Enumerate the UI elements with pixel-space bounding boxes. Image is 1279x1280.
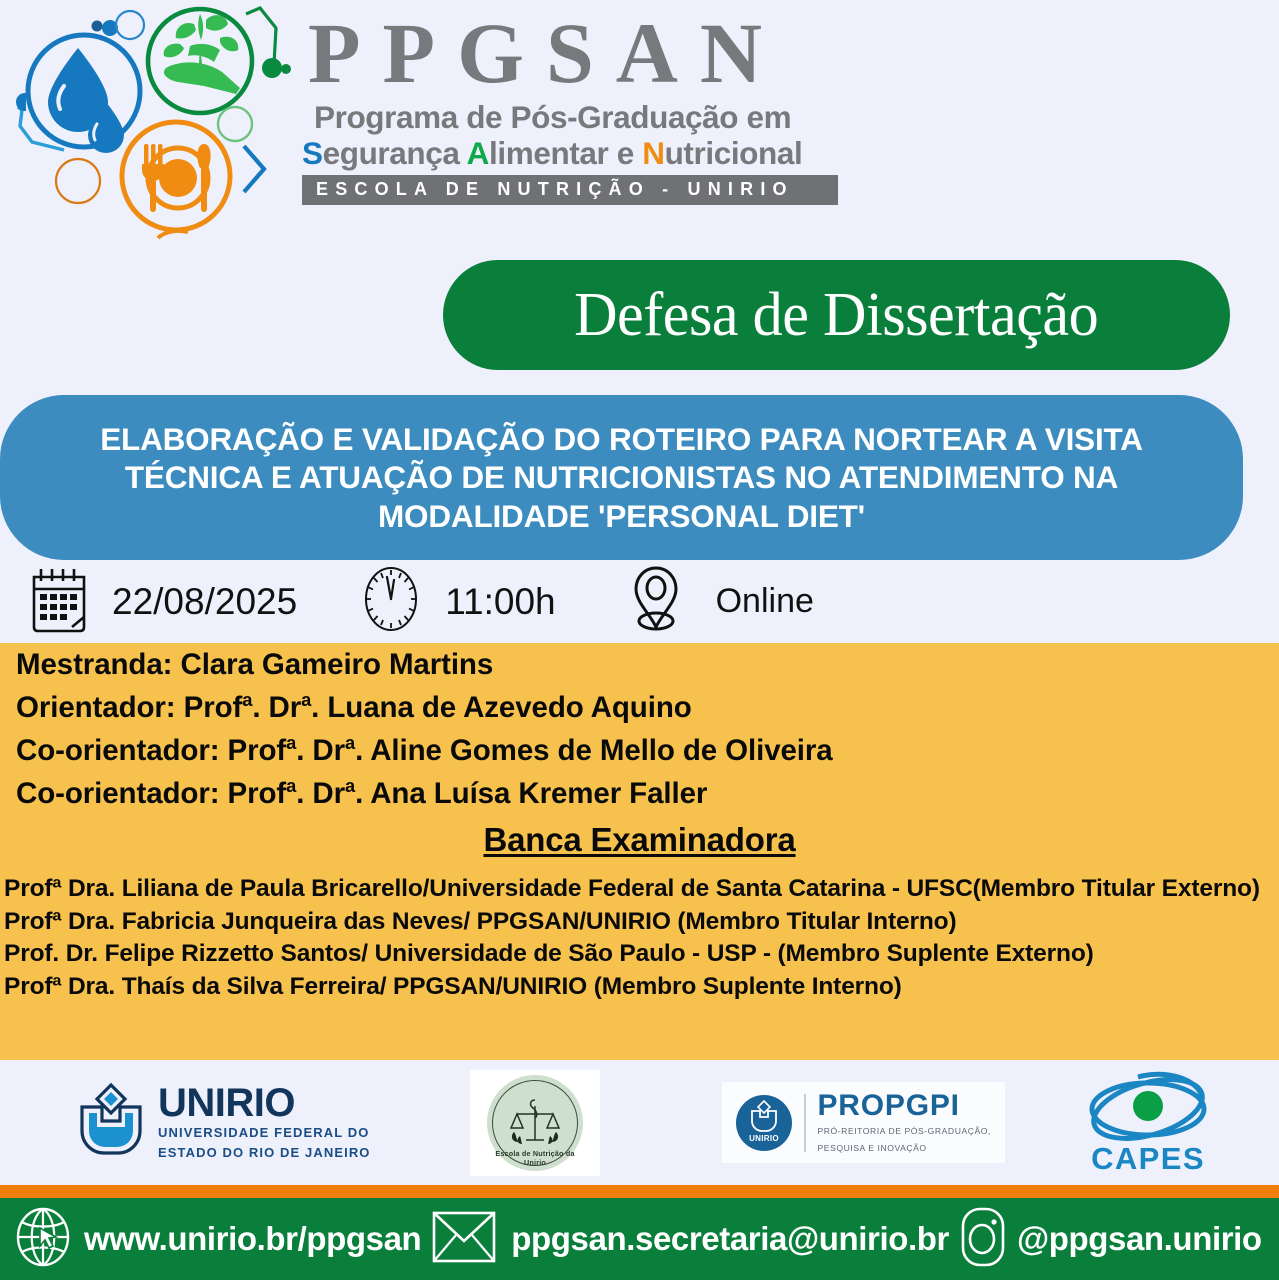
person-row-mestranda: Mestranda: Clara Gameiro Martins	[0, 643, 1279, 686]
event-title: ELABORAÇÃO E VALIDAÇÃO DO ROTEIRO PARA N…	[42, 420, 1202, 535]
footer-email-item[interactable]: ppgsan.secretaria@unirio.br	[431, 1209, 949, 1270]
subtitle-eguranca: egurança	[323, 135, 467, 171]
event-info-row: 22/08/2025	[0, 560, 1279, 643]
propgpi-unirio-badge-icon: UNIRIO	[736, 1095, 792, 1151]
event-time-item: 11:00h	[361, 565, 555, 638]
footer-email-text[interactable]: ppgsan.secretaria@unirio.br	[511, 1220, 949, 1258]
escola-seal-caption: Escola de Nutrição da Unirio	[487, 1149, 583, 1167]
partner-logos-row: UNIRIO UNIVERSIDADE FEDERAL DO ESTADO DO…	[0, 1060, 1279, 1185]
poster-root: PPGSAN Programa de Pós-Graduação em Segu…	[0, 0, 1279, 1280]
person-role: Orientador:	[16, 691, 176, 724]
event-location-item: Online	[628, 564, 814, 639]
unirio-name: UNIRIO	[158, 1084, 371, 1122]
unirio-tagline-line2: ESTADO DO RIO DE JANEIRO	[158, 1145, 371, 1161]
calendar-icon	[28, 565, 90, 638]
subtitle-a: A	[467, 135, 489, 171]
escola-nutricao-seal-icon: Escola de Nutrição da Unirio	[487, 1075, 583, 1171]
globe-icon	[14, 1206, 72, 1273]
map-pin-icon	[628, 564, 684, 639]
propgpi-badge-label: UNIRIO	[736, 1134, 792, 1143]
capes-orbit-icon	[1082, 1071, 1214, 1145]
propgpi-tagline-line2: PESQUISA E INOVAÇÃO	[818, 1142, 991, 1155]
partner-logo-propgpi: UNIRIO PROPGPI PRÓ-REITORIA DE PÓS-GRADU…	[722, 1060, 1005, 1185]
banca-member: Profª Dra. Liliana de Paula Bricarello/U…	[4, 873, 1273, 906]
school-bar-label: ESCOLA DE NUTRIÇÃO - UNIRIO	[302, 175, 838, 205]
footer-accent-stripe	[0, 1185, 1279, 1198]
envelope-icon	[431, 1209, 497, 1270]
clock-icon	[361, 565, 421, 638]
banca-member: Profª Dra. Fabricia Junqueira das Neves/…	[4, 906, 1273, 939]
subtitle-s: S	[302, 135, 323, 171]
person-name: Clara Gameiro Martins	[180, 648, 493, 681]
event-date-text: 22/08/2025	[112, 581, 297, 623]
ppgsan-subtitle-line1: Programa de Pós-Graduação em	[300, 100, 860, 135]
subtitle-limentar: limentar e	[489, 135, 642, 171]
person-role: Co-orientador:	[16, 734, 219, 767]
banca-list: Profª Dra. Liliana de Paula Bricarello/U…	[0, 873, 1279, 1003]
ppgsan-logo-mark	[8, 6, 298, 246]
partner-logo-escola-nutricao: Escola de Nutrição da Unirio	[470, 1060, 600, 1185]
person-row-orientador: Orientador: Profa. Dra. Luana de Azevedo…	[0, 686, 1279, 729]
details-section: Mestranda: Clara Gameiro Martins Orienta…	[0, 643, 1279, 1060]
partner-logo-unirio: UNIRIO UNIVERSIDADE FEDERAL DO ESTADO DO…	[72, 1060, 371, 1185]
footer-instagram-item[interactable]: @ppgsan.unirio	[959, 1206, 1262, 1273]
event-type-label: Defesa de Dissertação	[574, 280, 1098, 351]
ppgsan-acronym: PPGSAN	[300, 8, 860, 98]
partner-logo-capes: CAPES	[1082, 1060, 1214, 1185]
poster-header: PPGSAN Programa de Pós-Graduação em Segu…	[0, 0, 1279, 250]
banca-member: Prof. Dr. Felipe Rizzetto Santos/ Univer…	[4, 938, 1273, 971]
propgpi-tagline-line1: PRÓ-REITORIA DE PÓS-GRADUAÇÃO,	[818, 1125, 991, 1138]
event-location-text: Online	[716, 582, 814, 621]
banca-heading: Banca Examinadora	[0, 821, 1279, 859]
event-title-banner: ELABORAÇÃO E VALIDAÇÃO DO ROTEIRO PARA N…	[0, 395, 1243, 560]
footer-contact-bar: www.unirio.br/ppgsan ppgsan.secretaria@u…	[0, 1198, 1279, 1280]
subtitle-utricional: utricional	[665, 135, 803, 171]
person-row-coorientador-1: Co-orientador: Profa. Dra. Aline Gomes d…	[0, 729, 1279, 772]
banca-member: Profª Dra. Thaís da Silva Ferreira/ PPGS…	[4, 971, 1273, 1004]
event-type-banner: Defesa de Dissertação	[443, 260, 1230, 370]
propgpi-name: PROPGPI	[818, 1091, 991, 1121]
person-name: Luana de Azevedo Aquino	[327, 691, 691, 724]
person-role: Mestranda:	[16, 648, 172, 681]
person-role: Co-orientador:	[16, 777, 219, 810]
footer-instagram-text[interactable]: @ppgsan.unirio	[1017, 1220, 1262, 1258]
propgpi-divider	[804, 1094, 806, 1152]
ppgsan-subtitle-line2: Segurança Alimentar e Nutricional	[300, 136, 860, 171]
unirio-emblem-icon	[72, 1081, 150, 1164]
event-time-text: 11:00h	[445, 581, 555, 623]
subtitle-n: N	[642, 135, 664, 171]
unirio-tagline-line1: UNIVERSIDADE FEDERAL DO	[158, 1125, 371, 1141]
footer-website-text[interactable]: www.unirio.br/ppgsan	[84, 1220, 421, 1258]
footer-website-item[interactable]: www.unirio.br/ppgsan	[14, 1206, 421, 1273]
ppgsan-logo-text: PPGSAN Programa de Pós-Graduação em Segu…	[300, 8, 860, 205]
person-name: Ana Luísa Kremer Faller	[370, 777, 707, 810]
capes-name: CAPES	[1082, 1143, 1214, 1174]
person-name: Aline Gomes de Mello de Oliveira	[370, 734, 832, 767]
event-date-item: 22/08/2025	[28, 565, 297, 638]
instagram-icon	[959, 1206, 1007, 1273]
person-row-coorientador-2: Co-orientador: Profa. Dra. Ana Luísa Kre…	[0, 772, 1279, 815]
